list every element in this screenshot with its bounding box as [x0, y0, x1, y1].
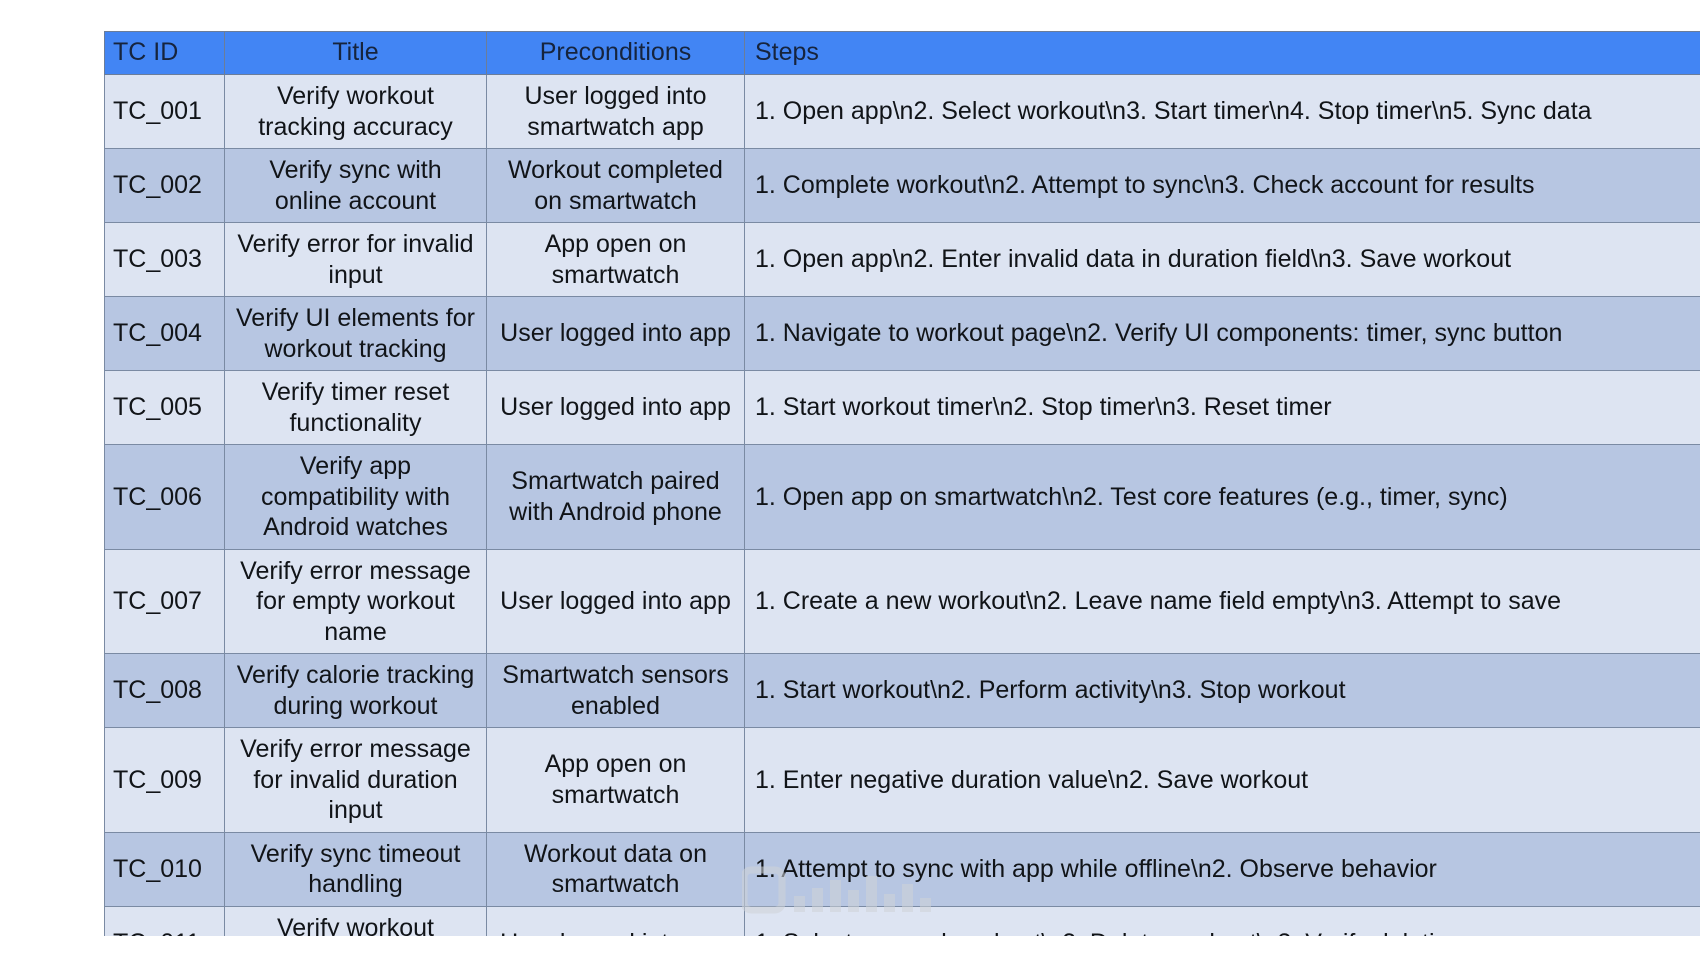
cell-steps: 1. Open app\n2. Enter invalid data in du…: [745, 223, 1700, 297]
table-header: TC ID Title Preconditions Steps: [105, 32, 1700, 75]
cell-title: Verify workout tracking accuracy: [225, 75, 487, 149]
cell-steps: 1. Create a new workout\n2. Leave name f…: [745, 549, 1700, 654]
cell-tc-id: TC_005: [105, 371, 225, 445]
test-case-table: TC ID Title Preconditions Steps TC_001Ve…: [104, 31, 1700, 936]
cell-tc-id: TC_008: [105, 654, 225, 728]
cell-preconditions: App open on smartwatch: [487, 223, 745, 297]
cell-tc-id: TC_007: [105, 549, 225, 654]
cell-tc-id: TC_001: [105, 75, 225, 149]
test-case-table-viewport: TC ID Title Preconditions Steps TC_001Ve…: [104, 31, 1700, 936]
table-row[interactable]: TC_008Verify calorie tracking during wor…: [105, 654, 1700, 728]
cell-title: Verify app compatibility with Android wa…: [225, 445, 487, 550]
cell-tc-id: TC_004: [105, 297, 225, 371]
cell-preconditions: Workout completed on smartwatch: [487, 149, 745, 223]
cell-title: Verify sync timeout handling: [225, 832, 487, 906]
cell-tc-id: TC_003: [105, 223, 225, 297]
cell-title: Verify error message for empty workout n…: [225, 549, 487, 654]
cell-steps: 1. Open app on smartwatch\n2. Test core …: [745, 445, 1700, 550]
table-row[interactable]: TC_011Verify workout deletionUser logged…: [105, 906, 1700, 936]
cell-title: Verify calorie tracking during workout: [225, 654, 487, 728]
column-header-tc-id[interactable]: TC ID: [105, 32, 225, 75]
cell-preconditions: User logged into app: [487, 549, 745, 654]
cell-tc-id: TC_002: [105, 149, 225, 223]
table-row[interactable]: TC_002Verify sync with online accountWor…: [105, 149, 1700, 223]
cell-title: Verify timer reset functionality: [225, 371, 487, 445]
table-row[interactable]: TC_009Verify error message for invalid d…: [105, 728, 1700, 833]
table-body: TC_001Verify workout tracking accuracyUs…: [105, 75, 1700, 937]
cell-preconditions: User logged into app: [487, 906, 745, 936]
cell-steps: 1. Start workout\n2. Perform activity\n3…: [745, 654, 1700, 728]
cell-title: Verify UI elements for workout tracking: [225, 297, 487, 371]
cell-preconditions: Smartwatch sensors enabled: [487, 654, 745, 728]
cell-steps: 1. Enter negative duration value\n2. Sav…: [745, 728, 1700, 833]
column-header-title[interactable]: Title: [225, 32, 487, 75]
cell-steps: 1. Navigate to workout page\n2. Verify U…: [745, 297, 1700, 371]
cell-preconditions: User logged into smartwatch app: [487, 75, 745, 149]
column-header-steps[interactable]: Steps: [745, 32, 1700, 75]
cell-steps: 1. Complete workout\n2. Attempt to sync\…: [745, 149, 1700, 223]
header-row: TC ID Title Preconditions Steps: [105, 32, 1700, 75]
cell-steps: 1. Select a saved workout\n2. Delete wor…: [745, 906, 1700, 936]
table-row[interactable]: TC_010Verify sync timeout handlingWorkou…: [105, 832, 1700, 906]
cell-steps: 1. Open app\n2. Select workout\n3. Start…: [745, 75, 1700, 149]
cell-preconditions: Workout data on smartwatch: [487, 832, 745, 906]
table-row[interactable]: TC_003Verify error for invalid inputApp …: [105, 223, 1700, 297]
cell-preconditions: Smartwatch paired with Android phone: [487, 445, 745, 550]
cell-tc-id: TC_006: [105, 445, 225, 550]
cell-tc-id: TC_011: [105, 906, 225, 936]
table-row[interactable]: TC_004Verify UI elements for workout tra…: [105, 297, 1700, 371]
table-row[interactable]: TC_006Verify app compatibility with Andr…: [105, 445, 1700, 550]
cell-title: Verify sync with online account: [225, 149, 487, 223]
cell-tc-id: TC_010: [105, 832, 225, 906]
cell-title: Verify error for invalid input: [225, 223, 487, 297]
cell-preconditions: User logged into app: [487, 297, 745, 371]
column-header-preconditions[interactable]: Preconditions: [487, 32, 745, 75]
cell-preconditions: User logged into app: [487, 371, 745, 445]
cell-preconditions: App open on smartwatch: [487, 728, 745, 833]
cell-steps: 1. Start workout timer\n2. Stop timer\n3…: [745, 371, 1700, 445]
cell-steps: 1. Attempt to sync with app while offlin…: [745, 832, 1700, 906]
cell-title: Verify workout deletion: [225, 906, 487, 936]
table-row[interactable]: TC_007Verify error message for empty wor…: [105, 549, 1700, 654]
table-row[interactable]: TC_005Verify timer reset functionalityUs…: [105, 371, 1700, 445]
cell-title: Verify error message for invalid duratio…: [225, 728, 487, 833]
table-row[interactable]: TC_001Verify workout tracking accuracyUs…: [105, 75, 1700, 149]
cell-tc-id: TC_009: [105, 728, 225, 833]
